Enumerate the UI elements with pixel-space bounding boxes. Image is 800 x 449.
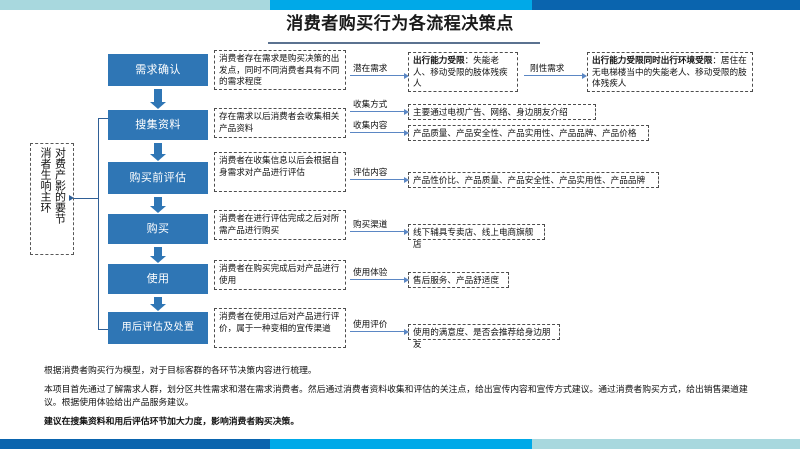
stage-label-purchase: 购买	[147, 214, 170, 244]
stage-desc-collect-info: 存在需求以后消费者会收集相关产品资料	[214, 108, 346, 138]
flow-arrow-head	[150, 304, 166, 311]
flow-arrow-usage	[150, 297, 166, 311]
bottom-bar-segment-navy	[0, 439, 270, 449]
stage-desc-pre-purchase-eval: 消费者在收集信息以后会根据自身需求对产品进行评估	[214, 152, 346, 192]
connector-label-purchase-0: 购买渠道	[353, 218, 387, 230]
connector-line-post-use-eval-0	[350, 331, 404, 332]
flow-arrow-pre-purchase-eval	[150, 197, 166, 213]
bottom-bar-segment-teal	[532, 439, 800, 449]
flow-arrow-head	[150, 102, 166, 109]
stage-box-post-use-eval[interactable]: 用后评估及处置	[108, 312, 208, 344]
note-line-3: 建议在搜集资料和用后评估环节加大力度，影响消费者购买决策。	[44, 415, 758, 428]
top-bar-segment-navy	[532, 0, 800, 10]
top-decor-bar	[0, 0, 800, 10]
connector-target-need-confirm-0: 出行能力受限：失能老人、移动受限的肢体残疾人	[408, 52, 518, 92]
side-label-bracket	[88, 118, 110, 330]
flow-arrow-shaft	[154, 297, 162, 304]
flow-arrow-head	[150, 154, 166, 161]
flow-arrow-shaft	[154, 247, 162, 256]
title-underline	[268, 42, 540, 44]
page-title: 消费者购买行为各流程决策点	[0, 13, 800, 35]
connector-line-need-confirm-0	[350, 75, 404, 76]
connector-target-post-use-eval-0: 使用的满意度、是否会推荐给身边朋友	[408, 324, 560, 340]
flow-arrow-head	[150, 206, 166, 213]
stage-box-need-confirm[interactable]: 需求确认	[108, 54, 208, 86]
connector-line-collect-info-1	[350, 132, 404, 133]
connector-line-collect-info-0	[350, 111, 404, 112]
flow-arrow-purchase	[150, 247, 166, 263]
slide-canvas: 消费者购买行为各流程决策点 对费产影的要节 消者生响主环 需求确认消费者存在需求…	[0, 0, 800, 449]
side-label-box: 对费产影的要节 消者生响主环	[30, 143, 74, 255]
connector-label-need-confirm-1: 刚性需求	[530, 62, 564, 74]
connector-label-pre-purchase-eval-0: 评估内容	[353, 166, 387, 178]
connector-target-usage-0: 售后服务、产品舒适度	[408, 272, 509, 288]
flow-arrow-shaft	[154, 197, 162, 206]
flow-arrow-collect-info	[150, 143, 166, 161]
connector-label-usage-0: 使用体验	[353, 266, 387, 278]
note-line-1: 根据消费者购买行为模型，对于目标客群的各环节决策内容进行梳理。	[44, 364, 758, 377]
stage-label-post-use-eval: 用后评估及处置	[122, 312, 195, 344]
note-line-2: 本项目首先通过了解需求人群，划分区共性需求和潜在需求消费者。然后通过消费者资料收…	[44, 383, 758, 409]
stage-desc-post-use-eval: 消费者在使用过后对产品进行评价，属于一种变相的宣传渠道	[214, 308, 346, 348]
connector-label-collect-info-1: 收集内容	[353, 119, 387, 131]
bottom-bar-segment-cyan	[270, 439, 532, 449]
connector-target-need-confirm-1: 出行能力受限同时出行环境受限：居住在无电梯楼当中的失能老人、移动受限的肢体残疾人	[587, 52, 753, 92]
connector-line-purchase-0	[350, 231, 404, 232]
stage-box-pre-purchase-eval[interactable]: 购买前评估	[108, 162, 208, 194]
connector-line-pre-purchase-eval-0	[350, 179, 404, 180]
stage-label-need-confirm: 需求确认	[135, 54, 181, 86]
flow-arrow-shaft	[154, 143, 162, 154]
side-label-col-left: 消者生响主环	[38, 147, 53, 213]
top-bar-segment-teal	[0, 0, 270, 10]
connector-label-post-use-eval-0: 使用评价	[353, 318, 387, 330]
stage-desc-need-confirm: 消费者存在需求是购买决策的出发点，同时不同消费者具有不同的需求程度	[214, 50, 346, 90]
flow-arrow-shaft	[154, 89, 162, 102]
connector-line-need-confirm-1	[524, 75, 582, 76]
connector-target-collect-info-0: 主要通过电视广告、网络、身边朋友介绍	[408, 104, 596, 120]
stage-label-usage: 使用	[147, 264, 170, 294]
bottom-decor-bar	[0, 439, 800, 449]
connector-line-usage-0	[350, 279, 404, 280]
stage-box-usage[interactable]: 使用	[108, 264, 208, 294]
connector-target-collect-info-1: 产品质量、产品安全性、产品实用性、产品品牌、产品价格	[408, 125, 649, 141]
side-label-col-right: 对费产影的要节	[52, 147, 67, 224]
connector-target-purchase-0: 线下辅具专卖店、线上电商旗舰店	[408, 224, 545, 240]
notes-block: 根据消费者购买行为模型，对于目标客群的各环节决策内容进行梳理。 本项目首先通过了…	[44, 364, 758, 434]
connector-label-need-confirm-0: 潜在需求	[353, 62, 387, 74]
connector-target-pre-purchase-eval-0: 产品性价比、产品质量、产品安全性、产品实用性、产品品牌	[408, 172, 659, 188]
flow-arrow-head	[150, 256, 166, 263]
stage-label-collect-info: 搜集资料	[135, 110, 181, 140]
stage-label-pre-purchase-eval: 购买前评估	[130, 162, 187, 194]
stage-box-purchase[interactable]: 购买	[108, 214, 208, 244]
connector-label-collect-info-0: 收集方式	[353, 98, 387, 110]
flow-arrow-need-confirm	[150, 89, 166, 109]
stage-box-collect-info[interactable]: 搜集资料	[108, 110, 208, 140]
stage-desc-usage: 消费者在购买完成后对产品进行使用	[214, 260, 346, 290]
top-bar-segment-cyan	[270, 0, 532, 10]
stage-desc-purchase: 消费者在进行评估完成之后对所需产品进行购买	[214, 210, 346, 240]
